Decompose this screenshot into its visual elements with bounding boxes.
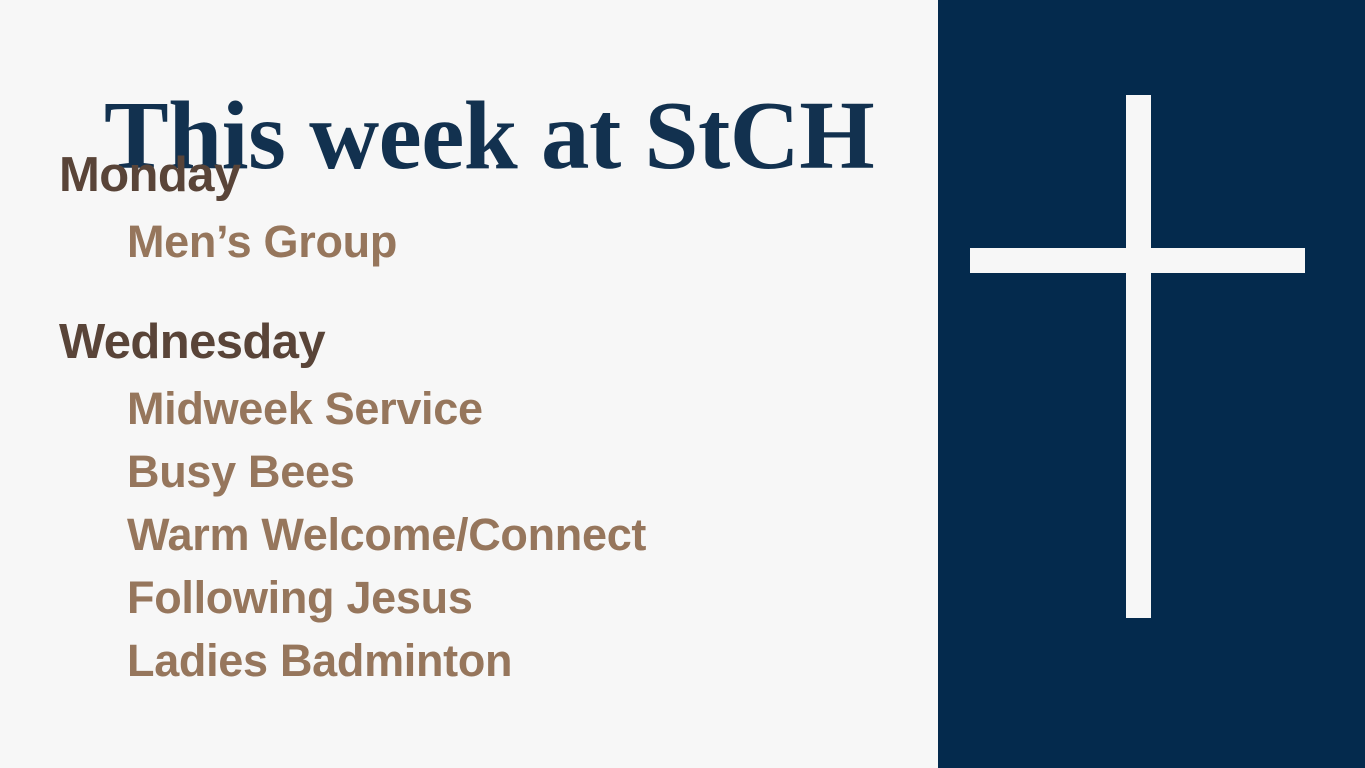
list-item: Following Jesus <box>127 566 938 629</box>
day-heading-wednesday: Wednesday <box>0 313 938 371</box>
day-heading-monday: Monday <box>0 146 938 204</box>
list-item: Ladies Badminton <box>127 629 938 692</box>
day-block-monday: Monday Men’s Group <box>0 146 938 273</box>
weekly-schedule: Monday Men’s Group Wednesday Midweek Ser… <box>0 146 938 692</box>
cross-icon <box>938 0 1365 768</box>
list-item: Busy Bees <box>127 440 938 503</box>
list-item: Men’s Group <box>127 210 938 273</box>
event-list-monday: Men’s Group <box>0 204 938 273</box>
cross-horizontal-bar <box>970 248 1305 273</box>
day-block-wednesday: Wednesday Midweek Service Busy Bees Warm… <box>0 313 938 692</box>
content-panel: This week at StCH Monday Men’s Group Wed… <box>0 0 938 768</box>
event-list-wednesday: Midweek Service Busy Bees Warm Welcome/C… <box>0 371 938 692</box>
list-item: Warm Welcome/Connect <box>127 503 938 566</box>
accent-panel <box>938 0 1365 768</box>
cross-vertical-bar <box>1126 95 1151 618</box>
list-item: Midweek Service <box>127 377 938 440</box>
slide: This week at StCH Monday Men’s Group Wed… <box>0 0 1365 768</box>
